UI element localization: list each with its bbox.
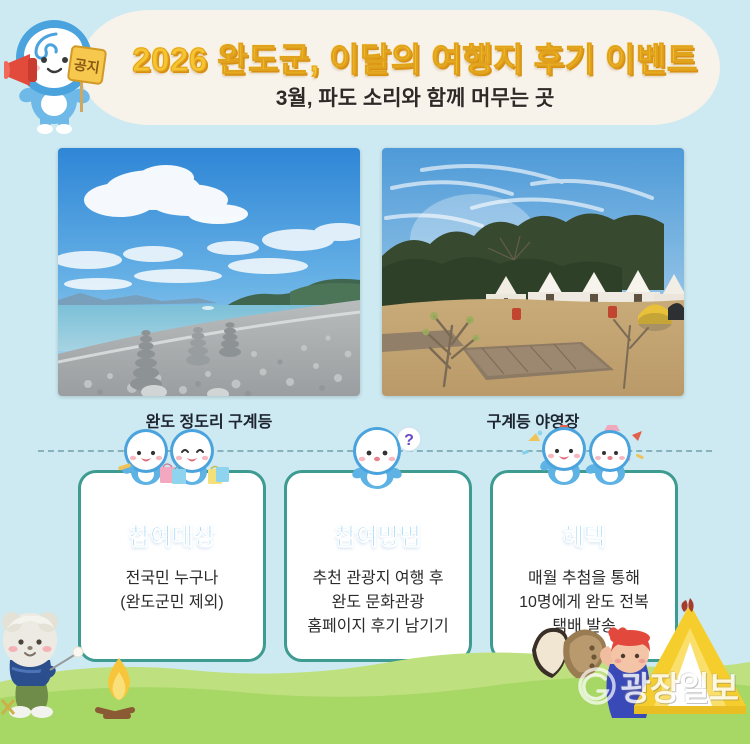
photo-beach <box>58 148 360 396</box>
card-body: 전국민 누구나 (완도군민 제외) <box>114 567 229 615</box>
shopping-bag-icon <box>160 464 229 484</box>
svg-text:?: ? <box>404 432 414 449</box>
card-participants: 참여대상 전국민 누구나 (완도군민 제외) <box>78 470 266 662</box>
mascot-celebration-pair <box>493 425 675 485</box>
card-body: 추천 관광지 여행 후 완도 문화관광 홈페이지 후기 남기기 <box>301 567 454 639</box>
watermark-logo-icon <box>577 666 617 706</box>
megaphone-icon <box>4 54 37 86</box>
page-title: 2026 완도군, 이달의 여행지 후기 이벤트 <box>110 33 720 81</box>
card-title: 참여방법 <box>335 517 422 551</box>
section-divider <box>38 450 712 452</box>
campfire-icon <box>88 652 150 720</box>
watermark: 광장일보 <box>577 662 738 710</box>
bear-character <box>0 608 86 720</box>
watermark-text: 광장일보 <box>621 662 738 710</box>
photo-campground <box>382 148 684 396</box>
mascot-announcer: 공지 <box>4 12 108 134</box>
card-how-to-participate: ? 참여방법 추천 관광지 여행 후 완도 문화관광 홈페 <box>284 470 472 662</box>
poster-root: 공지 2026 완도군, 이달의 여행지 후기 이벤트 3월, 파도 소리와 함… <box>0 0 750 744</box>
confetti-icon <box>522 431 644 462</box>
card-title: 혜택 <box>562 517 605 551</box>
page-subtitle: 3월, 파도 소리와 함께 머무는 곳 <box>110 82 720 112</box>
card-title: 참여대상 <box>129 517 216 551</box>
photo-caption-campground: 구계등 야영장 <box>382 408 684 432</box>
header-banner: 공지 2026 완도군, 이달의 여행지 후기 이벤트 3월, 파도 소리와 함… <box>0 0 750 140</box>
mascot-shopping-pair <box>81 425 263 485</box>
photo-caption-beach: 완도 정도리 구계등 <box>58 408 360 432</box>
mascot-question: ? <box>287 425 469 485</box>
